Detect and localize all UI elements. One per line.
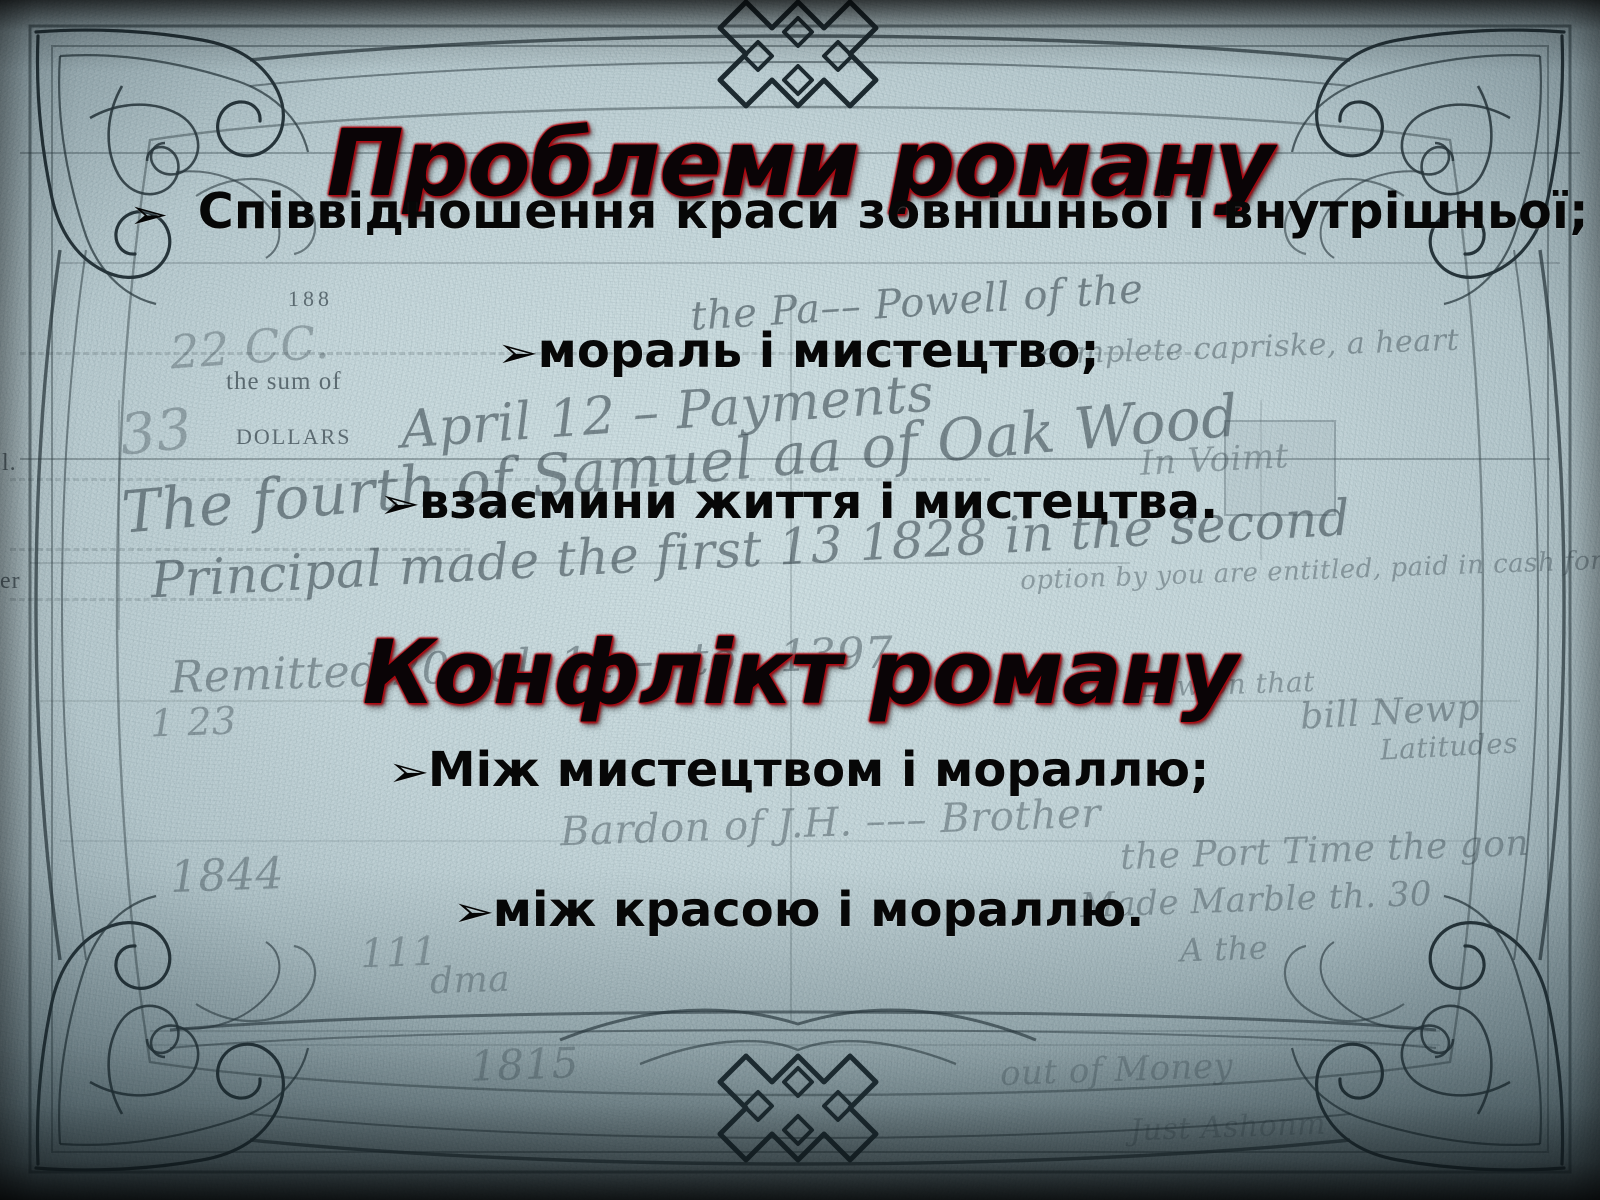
bullet-item-problems-1: ➢ Співвідношення краси зовнішньої і внут… <box>0 186 1600 237</box>
arrow-bullet-icon: ➢ <box>452 890 494 934</box>
slide-content: Проблеми роману ➢ Співвідношення краси з… <box>0 0 1600 1200</box>
bullet-text: між красою і мораллю. <box>493 885 1145 935</box>
arrow-bullet-icon: ➢ <box>497 331 539 375</box>
bullet-text: Співвідношення краси зовнішньої і внутрі… <box>198 186 1589 237</box>
bullet-item-conflict-2: ➢ між красою і мораллю. <box>0 885 1600 935</box>
bullet-text: мораль і мистецтво; <box>538 326 1100 376</box>
bullet-item-conflict-1: ➢ Між мистецтвом і мораллю; <box>0 745 1600 795</box>
presentation-slide: 188 the sum of DOLLARS l. er the Pa–– Po… <box>0 0 1600 1200</box>
bullet-item-problems-3: ➢ взаємини життя і мистецтва. <box>0 477 1600 527</box>
arrow-bullet-icon: ➢ <box>388 750 430 794</box>
bullet-text: Між мистецтвом і мораллю; <box>428 745 1209 795</box>
heading-conflict: Конфлікт роману <box>0 629 1600 717</box>
bullet-item-problems-2: ➢ мораль і мистецтво; <box>0 326 1600 376</box>
arrow-bullet-icon: ➢ <box>129 194 169 236</box>
arrow-bullet-icon: ➢ <box>379 482 421 526</box>
bullet-text: взаємини життя і мистецтва. <box>419 477 1218 527</box>
